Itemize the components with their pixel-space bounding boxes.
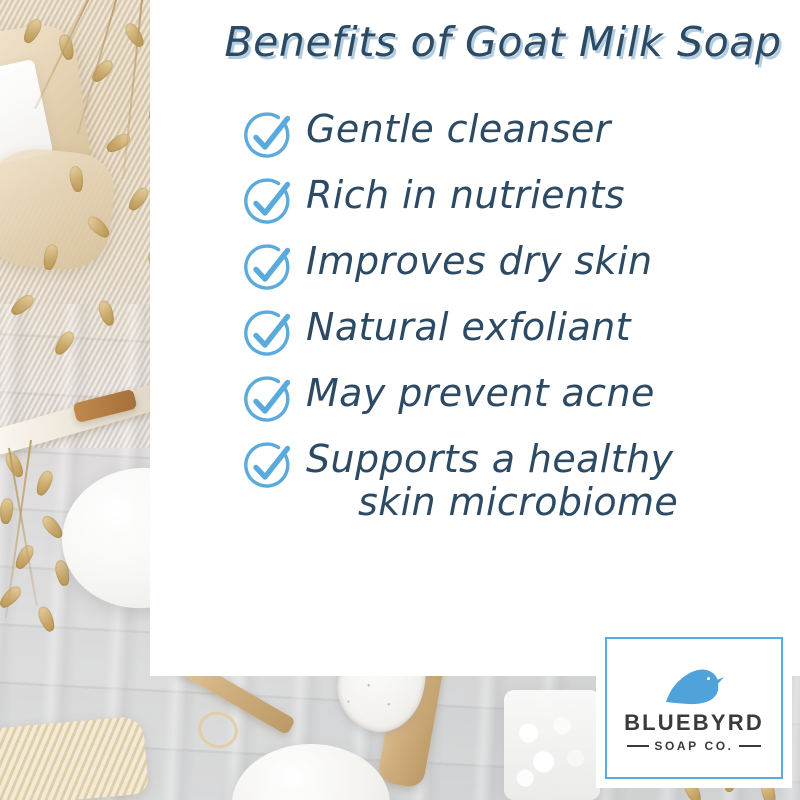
brand-tagline-row: SOAP CO. <box>627 740 760 752</box>
white-panel-offset-leg <box>150 0 206 676</box>
logo-border-box: BLUEBYRD SOAP CO. <box>605 637 783 779</box>
benefit-text-line1: Supports a healthy <box>306 437 673 481</box>
list-item: Supports a healthy skin microbiome <box>240 436 800 523</box>
check-circle-icon <box>240 372 296 428</box>
check-circle-icon <box>240 108 296 164</box>
list-item: Natural exfoliant <box>240 304 800 362</box>
benefit-text-wrapped: Supports a healthy skin microbiome <box>306 436 678 523</box>
check-circle-icon <box>240 174 296 230</box>
blue-bird-icon <box>663 665 725 707</box>
benefits-list: Gentle cleanser Rich in nutrients Improv… <box>240 106 800 531</box>
check-circle-icon <box>240 240 296 296</box>
benefit-text: May prevent acne <box>306 370 655 415</box>
list-item: Improves dry skin <box>240 238 800 296</box>
benefit-text: Gentle cleanser <box>306 106 611 151</box>
benefit-text: Rich in nutrients <box>306 172 625 217</box>
check-circle-icon <box>240 438 296 494</box>
brand-logo-card: BLUEBYRD SOAP CO. <box>596 628 792 788</box>
brand-tagline: SOAP CO. <box>654 740 733 752</box>
list-item: Gentle cleanser <box>240 106 800 164</box>
cotton-jar-prop <box>504 690 600 800</box>
tagline-rule-left <box>627 745 649 747</box>
benefit-text: Natural exfoliant <box>306 304 631 349</box>
page-title: Benefits of Goat Milk Soap <box>206 18 800 66</box>
poster-canvas: Benefits of Goat Milk Soap Gentle cleans… <box>0 0 800 800</box>
benefit-text: Improves dry skin <box>306 238 653 283</box>
loofah-prop <box>0 716 149 800</box>
tagline-rule-right <box>739 745 761 747</box>
benefit-text-line2: skin microbiome <box>306 481 678 524</box>
list-item: May prevent acne <box>240 370 800 428</box>
brand-wordmark: BLUEBYRD <box>624 712 764 734</box>
list-item: Rich in nutrients <box>240 172 800 230</box>
check-circle-icon <box>240 306 296 362</box>
